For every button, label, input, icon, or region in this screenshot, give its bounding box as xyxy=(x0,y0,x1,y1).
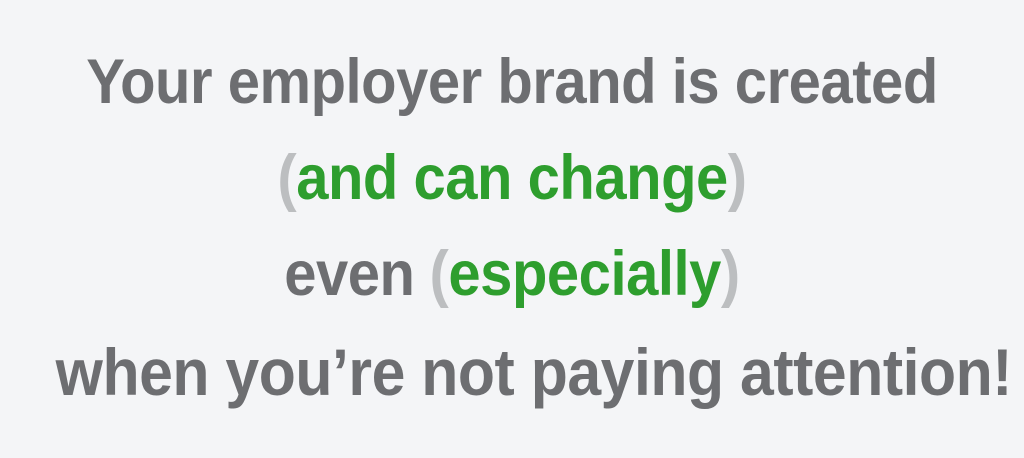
quote-line-3-lead: even xyxy=(284,239,414,309)
quote-line-1: Your employer brand is created xyxy=(56,51,969,114)
quote-line-3-emphasis: especially xyxy=(448,239,721,309)
quote-block: Your employer brand is created (and can … xyxy=(16,51,1008,405)
open-paren-line-3: ( xyxy=(430,239,449,309)
close-paren-line-3: ) xyxy=(721,239,740,309)
quote-slide: Your employer brand is created (and can … xyxy=(0,0,1024,458)
quote-line-2: (and can change) xyxy=(56,147,969,210)
quote-line-3: even(especially) xyxy=(56,243,969,306)
quote-line-4-text: when you’re not paying attention! xyxy=(56,335,1012,409)
close-paren-line-2: ) xyxy=(728,143,747,213)
quote-line-2-emphasis: and can change xyxy=(296,143,728,213)
quote-line-1-text: Your employer brand is created xyxy=(86,47,938,117)
open-paren-line-2: ( xyxy=(277,143,296,213)
quote-line-4: when you’re not paying attention! xyxy=(56,339,969,405)
